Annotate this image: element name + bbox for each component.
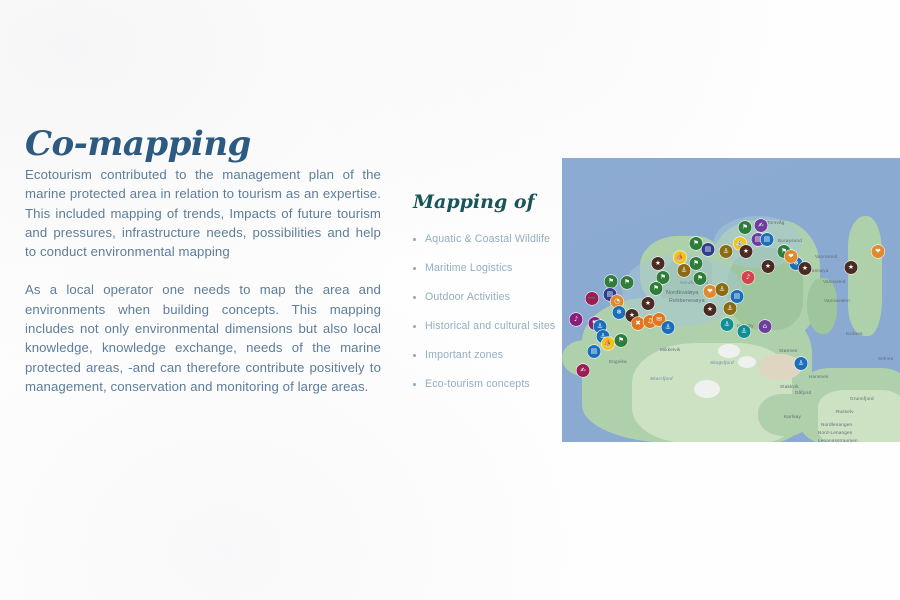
map-pin-glyph: ★ [799, 262, 812, 275]
map-pin-glyph: ★ [762, 260, 775, 273]
landmass-small-isle-east [807, 278, 837, 334]
map-pin-glyph: ✍ [755, 219, 768, 232]
map-pin-icon[interactable]: ⚑ [694, 272, 707, 285]
map-place-label: Karlsøy [784, 414, 801, 419]
map-place-label: Skogsfjord [710, 360, 734, 365]
map-pin-glyph: ⚑ [690, 257, 703, 270]
map-pin-glyph: ⚑ [739, 221, 752, 234]
map-place-label: Stakkvik [780, 384, 799, 389]
map-pin-icon[interactable]: ⚓ [662, 321, 675, 334]
map-place-label: Nord-Lenangen [818, 430, 853, 435]
map-place-label: Rebbenesøya [669, 298, 705, 304]
body-text-column: Ecotourism contributed to the management… [25, 165, 381, 396]
map-pin-icon[interactable]: ★ [704, 303, 717, 316]
map-place-label: Vannøya [809, 268, 828, 273]
map-pin-glyph: ⚑ [694, 272, 707, 285]
body-paragraph-2: As a local operator one needs to map the… [25, 280, 381, 396]
map-pin-icon[interactable]: ⚓ [795, 357, 808, 370]
map-pin-icon[interactable]: ✍ [755, 219, 768, 232]
map-pin-glyph: ⚑ [615, 334, 628, 347]
map-pin-glyph: ⚓ [724, 302, 737, 315]
map-pin-icon[interactable]: ⚓ [678, 264, 691, 277]
map-pin-icon[interactable]: ★ [740, 245, 753, 258]
map-place-label: Vannareid [815, 254, 837, 259]
map-pin-glyph: ⚓ [721, 318, 734, 331]
map-place-label: Russelv [836, 409, 854, 414]
map-pin-icon[interactable]: ⛵ [602, 337, 615, 350]
map-place-label: Vannareid [823, 279, 845, 284]
map-pin-icon[interactable]: ⚓ [738, 325, 751, 338]
map-pin-icon[interactable]: ▤ [702, 243, 715, 256]
map-place-label: Nordlenangen [821, 422, 852, 427]
map-place-label: Hansnes [809, 374, 829, 379]
map-pin-glyph: ★ [845, 261, 858, 274]
landmass-glacier-patch-b [718, 344, 740, 358]
map-pin-icon[interactable]: ⚑ [650, 282, 663, 295]
list-item: Important zones [413, 350, 555, 361]
map-place-label: Burøysund [778, 238, 802, 243]
map-pin-icon[interactable]: ★ [799, 262, 812, 275]
list-item: Maritime Logistics [413, 263, 555, 274]
map-pin-glyph: ⌂ [759, 320, 772, 333]
map-pin-glyph: ✍ [577, 364, 590, 377]
map-pin-icon[interactable]: ❄ [613, 306, 626, 319]
map-pin-icon[interactable]: ❤ [872, 245, 885, 258]
map-pin-glyph: ⚓ [716, 283, 729, 296]
landmass-glacier-patch-c [738, 356, 756, 368]
map-pin-glyph: ★ [740, 245, 753, 258]
map-pin-glyph: ▤ [588, 345, 601, 358]
map-image[interactable]: NordkvaløyaNordkvaløyaRebbenesøyaMikkelv… [562, 158, 900, 442]
list-item: Historical and cultural sites [413, 321, 555, 332]
map-place-label: Dåfjord [795, 390, 811, 395]
map-pin-icon[interactable]: ➖ [586, 292, 599, 305]
mapping-list-column: Mapping of Aquatic & Coastal Wildlife Ma… [413, 193, 555, 409]
landmass-glacier-patch-a [694, 380, 720, 398]
list-item: Eco-tourism concepts [413, 379, 555, 390]
list-item: Aquatic & Coastal Wildlife [413, 234, 555, 245]
map-place-label: Skarsfjord [650, 376, 673, 381]
map-pin-icon[interactable]: ▤ [588, 345, 601, 358]
map-place-label: Nordkvaløya [666, 290, 698, 296]
map-place-label: Vannavalen [824, 298, 850, 303]
map-pin-icon[interactable]: ⚑ [615, 334, 628, 347]
map-pin-glyph: ♪ [570, 313, 583, 326]
map-pin-glyph: ▤ [702, 243, 715, 256]
map-pin-icon[interactable]: ★ [642, 297, 655, 310]
slide-root: Co-mapping Ecotourism contributed to the… [0, 0, 900, 600]
map-place-label: Selnes [878, 356, 893, 361]
map-pin-icon[interactable]: ★ [762, 260, 775, 273]
page-title: Co-mapping [25, 127, 251, 161]
map-pin-icon[interactable]: ❤ [785, 250, 798, 263]
map-pin-icon[interactable]: ⌂ [759, 320, 772, 333]
map-pin-glyph: ⚓ [678, 264, 691, 277]
map-place-label: Stønnes [779, 348, 798, 353]
map-pin-glyph: ⚓ [662, 321, 675, 334]
map-place-label: Torsvåg [767, 220, 784, 225]
map-pin-glyph: ❤ [872, 245, 885, 258]
map-place-label: Lenangsstraumen [818, 438, 858, 442]
map-pin-glyph: ⚓ [720, 245, 733, 258]
map-pin-glyph: ▤ [761, 233, 774, 246]
map-place-label: Grunnfjord [850, 396, 874, 401]
map-pin-glyph: ❤ [785, 250, 798, 263]
map-pin-icon[interactable]: ♪ [742, 271, 755, 284]
map-place-label: Engvika [609, 359, 627, 364]
map-pin-glyph: ⚑ [605, 275, 618, 288]
map-pin-glyph: ⚑ [650, 282, 663, 295]
map-pin-glyph: ❄ [613, 306, 626, 319]
map-pin-glyph: ★ [704, 303, 717, 316]
mapping-bullet-list: Aquatic & Coastal Wildlife Maritime Logi… [413, 234, 555, 390]
map-pin-icon[interactable]: ✍ [577, 364, 590, 377]
mapping-of-heading: Mapping of [413, 193, 555, 212]
map-pin-glyph: ★ [652, 257, 665, 270]
map-pin-glyph: ⚓ [795, 357, 808, 370]
map-pin-glyph: ➖ [586, 292, 599, 305]
map-pin-glyph: ⚑ [621, 276, 634, 289]
map-pin-icon[interactable]: ♪ [570, 313, 583, 326]
map-pin-glyph: ♪ [742, 271, 755, 284]
map-pin-icon[interactable]: ⚑ [690, 257, 703, 270]
map-canvas: NordkvaløyaNordkvaløyaRebbenesøyaMikkelv… [562, 158, 900, 442]
map-pin-icon[interactable]: ⚑ [739, 221, 752, 234]
list-item: Outdoor Activities [413, 292, 555, 303]
map-pin-icon[interactable]: ⛵ [674, 251, 687, 264]
map-pin-icon[interactable]: ⚓ [720, 245, 733, 258]
map-pin-icon[interactable]: ★ [845, 261, 858, 274]
map-pin-icon[interactable]: ⚓ [721, 318, 734, 331]
landmass-northeast-peninsula [848, 216, 882, 336]
map-place-label: Mikkelvik [660, 347, 680, 352]
map-pin-icon[interactable]: ⚓ [724, 302, 737, 315]
map-pin-glyph: ★ [642, 297, 655, 310]
map-pin-glyph: ⚓ [738, 325, 751, 338]
map-pin-icon[interactable]: ⚑ [605, 275, 618, 288]
map-pin-icon[interactable]: ★ [652, 257, 665, 270]
map-pin-glyph: ⛵ [674, 251, 687, 264]
map-pin-glyph: ⛵ [602, 337, 615, 350]
map-place-label: Kvitnes [846, 331, 862, 336]
map-pin-icon[interactable]: ⚓ [716, 283, 729, 296]
body-paragraph-1: Ecotourism contributed to the management… [25, 165, 381, 261]
map-pin-icon[interactable]: ▤ [761, 233, 774, 246]
map-pin-icon[interactable]: ⚑ [621, 276, 634, 289]
